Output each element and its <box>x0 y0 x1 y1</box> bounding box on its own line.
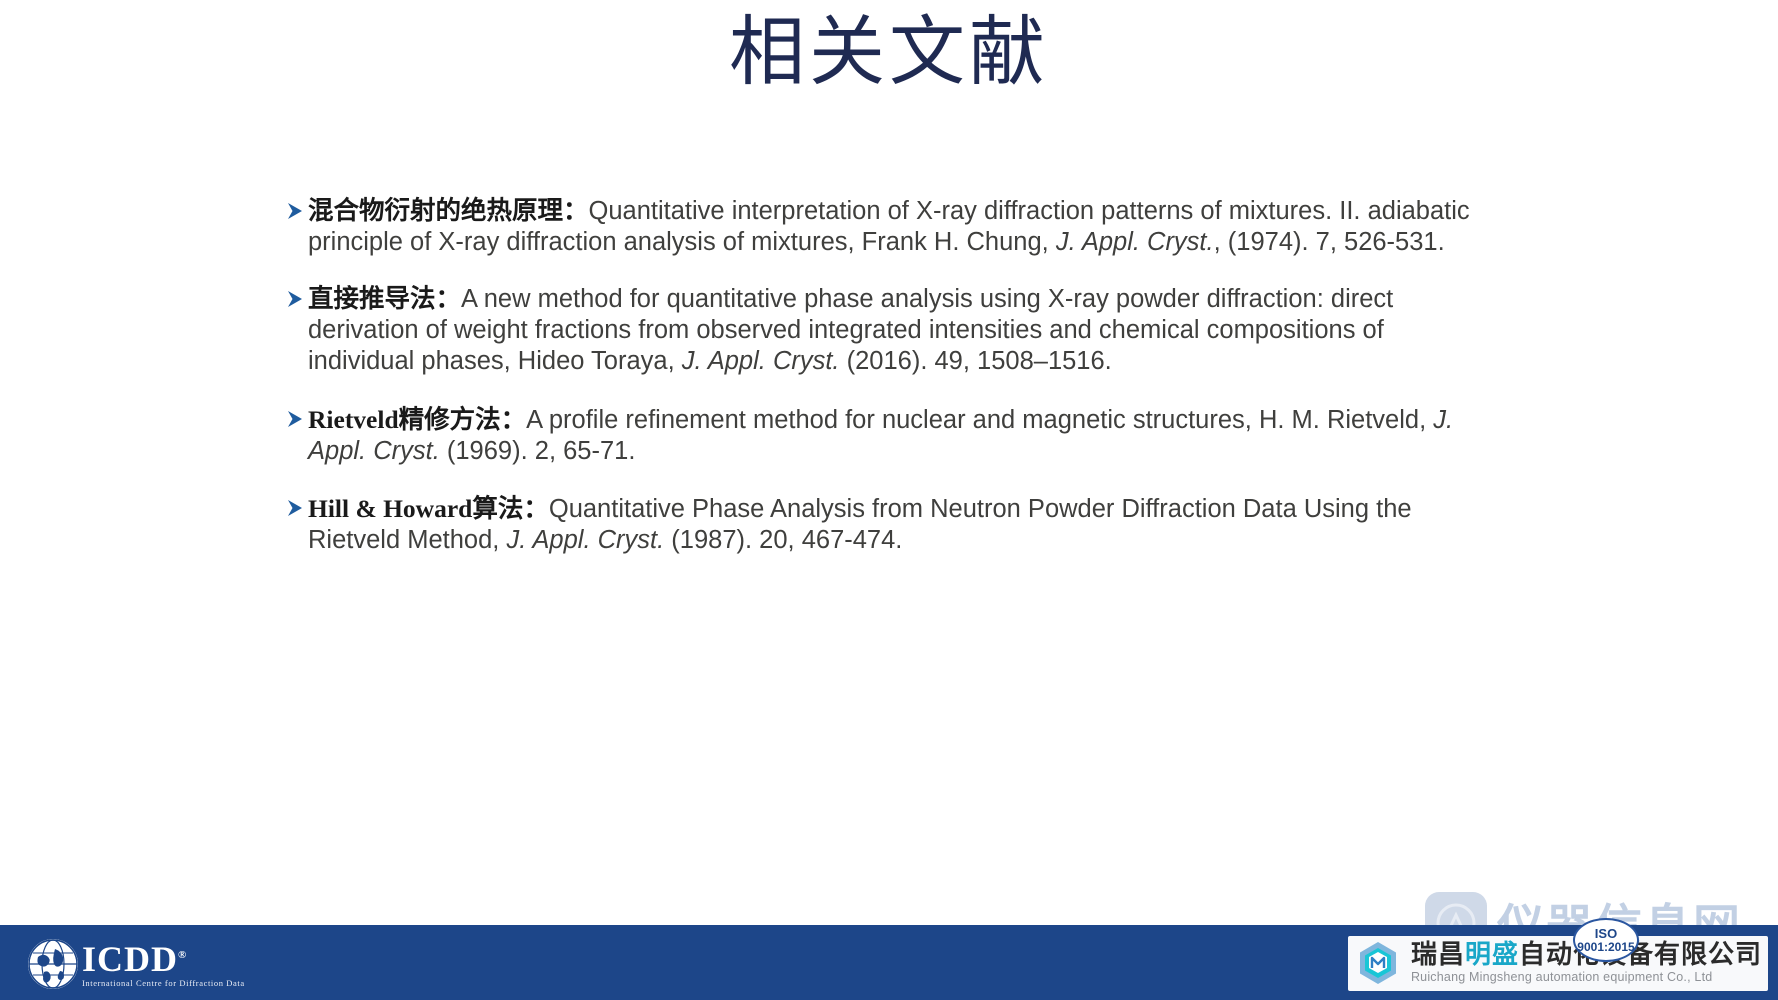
icdd-wordmark: ICDD® International Centre for Diffracti… <box>82 941 245 988</box>
icdd-tagline: International Centre for Diffraction Dat… <box>82 979 245 988</box>
reference-journal: J. Appl. Cryst. <box>1056 228 1214 256</box>
reference-colon: ： <box>501 406 527 434</box>
iso-badge: ISO 9001:2015 <box>1573 918 1639 962</box>
reference-journal: J. Appl. Cryst. <box>506 526 664 554</box>
list-item: 混合物衍射的绝热原理：Quantitative interpretation o… <box>286 196 1476 258</box>
page-title: 相关文献 <box>0 6 1778 101</box>
arrow-bullet-icon <box>286 288 304 312</box>
mingsheng-cn-suffix: 自动化设备有限公司 <box>1519 940 1762 970</box>
hexagon-m-icon <box>1354 939 1402 987</box>
reference-lead: Rietveld精修方法 <box>308 405 501 434</box>
iso-badge-line2: 9001:2015 <box>1577 941 1634 953</box>
reference-text-after: , (1974). 7, 526-531. <box>1214 228 1445 256</box>
list-item: 直接推导法：A new method for quantitative phas… <box>286 284 1476 377</box>
icdd-name: ICDD® <box>82 941 245 977</box>
reference-text-after: (1969). 2, 65-71. <box>440 437 636 465</box>
globe-icon <box>28 939 78 989</box>
reference-journal: J. Appl. Cryst. <box>682 347 840 375</box>
icdd-logo: ICDD® International Centre for Diffracti… <box>28 936 245 992</box>
list-item: Rietveld精修方法：A profile refinement method… <box>286 404 1476 467</box>
arrow-bullet-icon <box>286 497 304 521</box>
reference-text-after: (1987). 20, 467-474. <box>664 526 902 554</box>
arrow-bullet-icon <box>286 408 304 432</box>
arrow-bullet-icon <box>286 200 304 224</box>
list-item: Hill & Howard算法：Quantitative Phase Analy… <box>286 493 1476 556</box>
reference-lead: Hill & Howard算法 <box>308 494 523 523</box>
mingsheng-cn-prefix: 瑞昌 <box>1411 940 1465 970</box>
reference-colon: ： <box>563 197 589 225</box>
reference-colon: ： <box>436 285 462 313</box>
reference-colon: ： <box>523 495 549 523</box>
reference-list: 混合物衍射的绝热原理：Quantitative interpretation o… <box>286 196 1476 556</box>
registered-mark-icon: ® <box>178 949 187 961</box>
mingsheng-logo: 瑞昌明盛自动化设备有限公司 Ruichang Mingsheng automat… <box>1348 936 1768 991</box>
reference-lead: 混合物衍射的绝热原理 <box>308 197 563 225</box>
reference-lead: 直接推导法 <box>308 285 436 313</box>
mingsheng-en-name: Ruichang Mingsheng automation equipment … <box>1411 971 1762 984</box>
iso-badge-line1: ISO <box>1595 927 1617 940</box>
slide-canvas: 相关文献 混合物衍射的绝热原理：Quantitative interpretat… <box>0 0 1778 1000</box>
mingsheng-cn-highlight: 明盛 <box>1465 940 1519 970</box>
reference-text-before: A profile refinement method for nuclear … <box>526 406 1433 434</box>
icdd-name-text: ICDD <box>82 939 178 979</box>
reference-text-after: (2016). 49, 1508–1516. <box>840 347 1112 375</box>
